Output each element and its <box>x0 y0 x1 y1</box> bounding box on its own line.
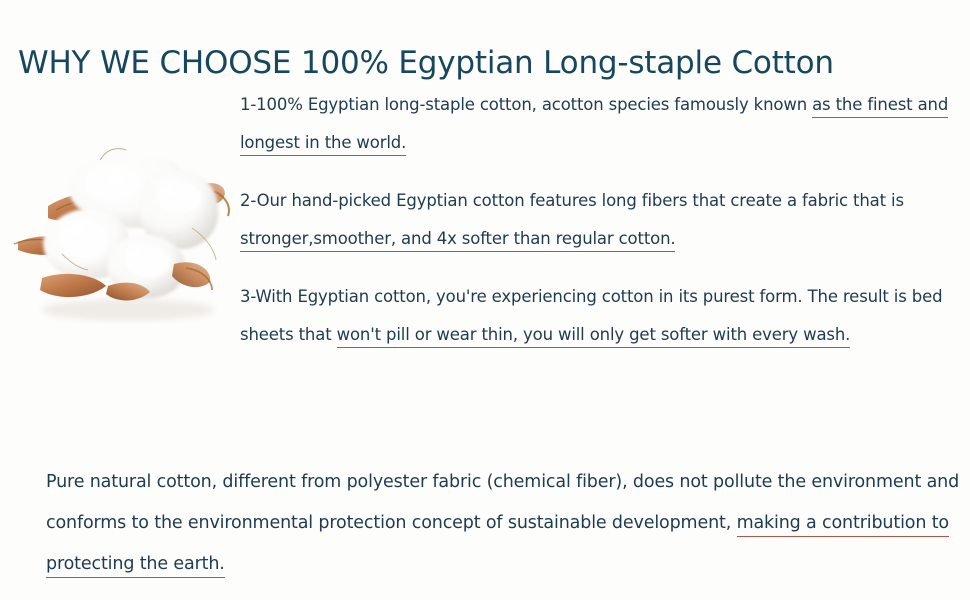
benefit-2-highlight: stronger,smoother, and 4x softer than re… <box>240 229 675 252</box>
benefit-2-text: 2-Our hand-picked Egyptian cotton featur… <box>240 191 904 210</box>
sustainability-paragraph: Pure natural cotton, different from poly… <box>46 462 964 585</box>
page-title: WHY WE CHOOSE 100% Egyptian Long-staple … <box>18 43 958 83</box>
benefit-point-1: 1-100% Egyptian long-staple cotton, acot… <box>240 86 962 162</box>
benefit-3-highlight: won't pill or wear thin, you will only g… <box>337 325 851 348</box>
marketing-banner: WHY WE CHOOSE 100% Egyptian Long-staple … <box>0 0 970 600</box>
cotton-boll-image <box>8 132 240 328</box>
sustainability-block: Pure natural cotton, different from poly… <box>46 462 964 585</box>
benefit-point-3: 3-With Egyptian cotton, you're experienc… <box>240 278 962 354</box>
cotton-boll-illustration <box>8 132 240 328</box>
benefits-list: 1-100% Egyptian long-staple cotton, acot… <box>240 86 962 354</box>
benefit-point-2: 2-Our hand-picked Egyptian cotton featur… <box>240 182 962 258</box>
benefit-1-text: 1-100% Egyptian long-staple cotton, acot… <box>240 95 812 114</box>
